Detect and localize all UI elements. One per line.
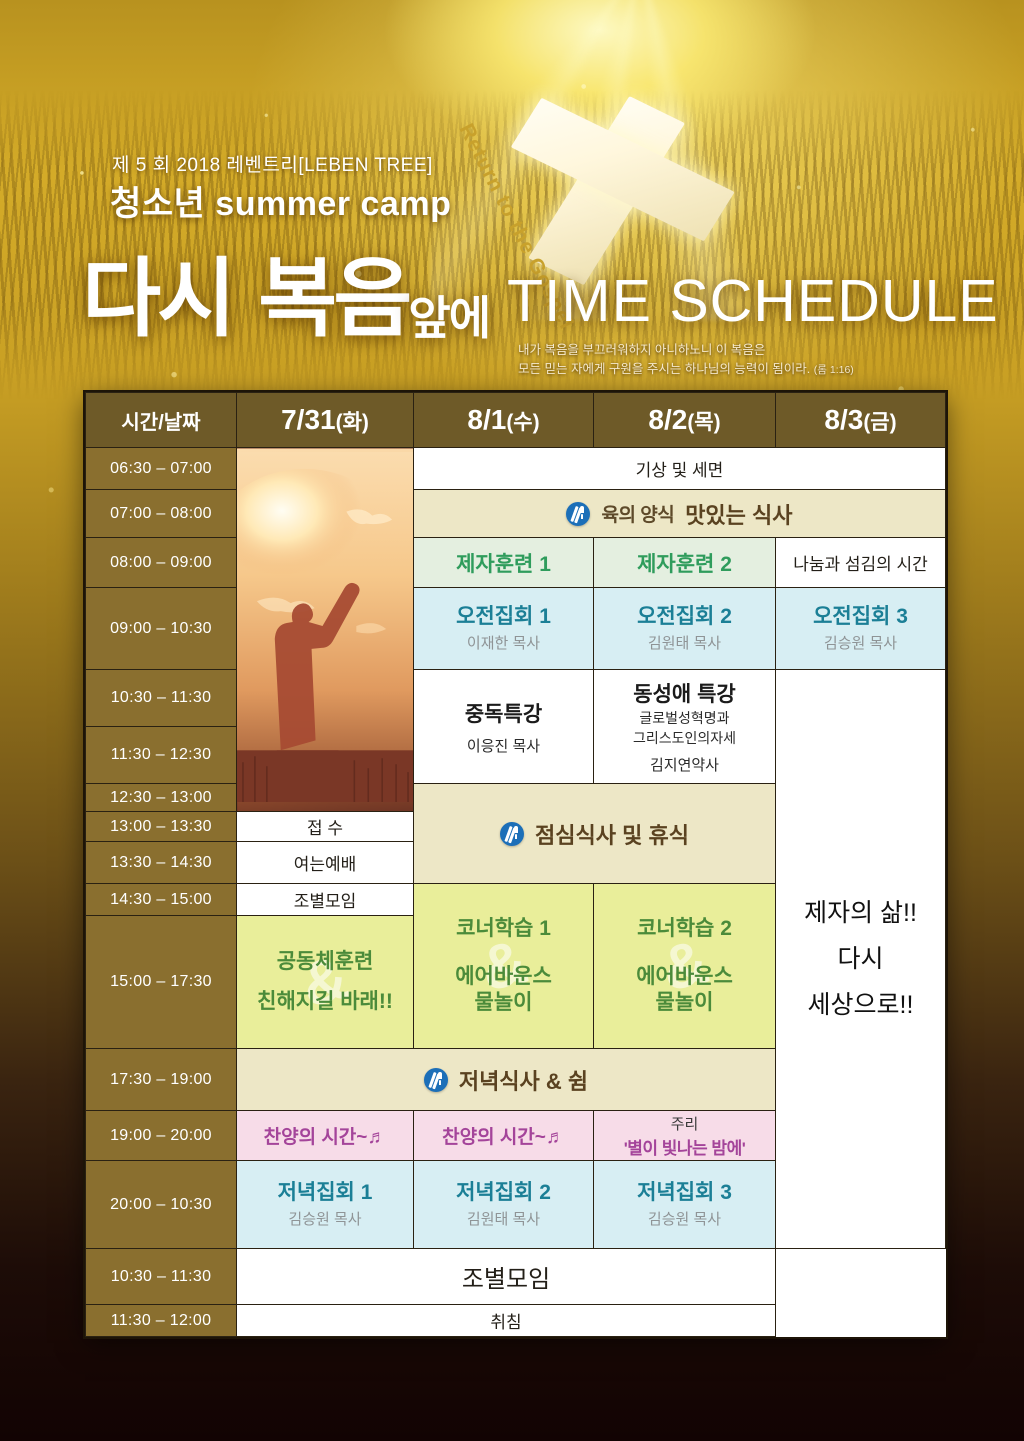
time-cell-5: 11:30 – 12:30 bbox=[86, 727, 237, 784]
corner-2-line-1: 코너학습 2 bbox=[594, 916, 775, 942]
morning-2-title: 오전집회 2 bbox=[594, 604, 775, 629]
cutlery-icon bbox=[500, 822, 524, 846]
evening-2-title: 저녁집회 2 bbox=[414, 1180, 593, 1205]
closing-line-3: 세상으로!! bbox=[776, 982, 945, 1028]
cell-breakfast: 육의 양식 맛있는 식사 bbox=[414, 490, 946, 538]
header-date-3-dow: (금) bbox=[863, 411, 896, 434]
cell-evening-session-1: 저녁집회 1 김승원 목사 bbox=[237, 1161, 414, 1249]
cell-evening-session-2: 저녁집회 2 김원태 목사 bbox=[414, 1161, 594, 1249]
time-cell-10: 15:00 – 17:30 bbox=[86, 916, 237, 1049]
cell-community-training: & 공동체훈련 친해지길 바래!! bbox=[237, 916, 414, 1049]
corner-1-line-2: 에어바운스 bbox=[414, 964, 593, 990]
time-cell-13: 20:00 – 10:30 bbox=[86, 1161, 237, 1249]
cell-juri-concert: 주리 '별이 빛나는 밤에' bbox=[594, 1111, 776, 1161]
header-date-3-date: 8/3 bbox=[824, 404, 863, 435]
homosex-speaker: 김지연약사 bbox=[594, 754, 775, 775]
cross-graphic bbox=[455, 108, 785, 283]
cell-corner-learning-1: & 코너학습 1 에어바운스 물놀이 bbox=[414, 884, 594, 1049]
table-row: 10:30 – 11:30 중독특강 이응진 목사 동성애 특강 글로벌성혁명과… bbox=[86, 670, 946, 727]
verse-reference: (롬 1:16) bbox=[814, 364, 854, 376]
cell-lunch: 점심식사 및 휴식 bbox=[414, 784, 776, 884]
dinner-content: 저녁식사 & 쉼 bbox=[237, 1064, 775, 1096]
morning-3-speaker: 김승원 목사 bbox=[776, 632, 945, 653]
cell-bedtime: 취침 bbox=[237, 1305, 776, 1337]
corner-2-line-3: 물놀이 bbox=[594, 990, 775, 1016]
header-date-0-dow: (화) bbox=[336, 411, 369, 434]
corner-2-line-2: 에어바운스 bbox=[594, 964, 775, 990]
evening-3-title: 저녁집회 3 bbox=[594, 1180, 775, 1205]
morning-2-speaker: 김원태 목사 bbox=[594, 632, 775, 653]
calligraphy-small: 앞에 bbox=[408, 291, 489, 345]
time-cell-0: 06:30 – 07:00 bbox=[86, 448, 237, 490]
lunch-content: 점심식사 및 휴식 bbox=[414, 818, 775, 850]
calligraphy-main: 다시 복음 bbox=[82, 249, 408, 349]
header-date-2-date: 8/2 bbox=[648, 404, 687, 435]
calligraphy-headline: 다시 복음앞에 bbox=[82, 256, 489, 342]
table-row: 09:00 – 10:30 오전집회 1 이재한 목사 오전집회 2 김원태 목… bbox=[86, 588, 946, 670]
time-cell-9: 14:30 – 15:00 bbox=[86, 884, 237, 916]
cell-sharing-time: 나눔과 섬김의 시간 bbox=[776, 538, 946, 588]
juri-name: 주리 bbox=[594, 1113, 775, 1134]
table-row: 10:30 – 11:30 조별모임 bbox=[86, 1249, 946, 1305]
header-time-label: 시간/날짜 bbox=[86, 393, 237, 448]
time-cell-6: 12:30 – 13:00 bbox=[86, 784, 237, 812]
morning-1-speaker: 이재한 목사 bbox=[414, 632, 593, 653]
table-row: 11:30 – 12:00 취침 bbox=[86, 1305, 946, 1337]
verse-line-2-wrap: 모든 믿는 자에게 구원을 주시는 하나님의 능력이 됨이라. (롬 1:16) bbox=[518, 360, 854, 379]
cutlery-icon bbox=[424, 1068, 448, 1092]
cell-opening-service: 여는예배 bbox=[237, 842, 414, 884]
table-row: 07:00 – 08:00 육의 양식 맛있는 식사 bbox=[86, 490, 946, 538]
addiction-speaker: 이응진 목사 bbox=[414, 735, 593, 756]
header-date-1-date: 8/1 bbox=[467, 404, 506, 435]
juri-title: '별이 빛나는 밤에' bbox=[594, 1134, 775, 1159]
cell-corner-learning-2: & 코너학습 2 에어바운스 물놀이 bbox=[594, 884, 776, 1049]
morning-3-title: 오전집회 3 bbox=[776, 604, 945, 629]
cell-praise-time-2: 찬양의 시간~♬ bbox=[414, 1111, 594, 1161]
time-cell-3: 09:00 – 10:30 bbox=[86, 588, 237, 670]
time-cell-2: 08:00 – 09:00 bbox=[86, 538, 237, 588]
community-line-1: 공동체훈련 bbox=[237, 942, 413, 982]
table-header-row: 시간/날짜 7/31(화) 8/1(수) 8/2(목) 8/3(금) bbox=[86, 393, 946, 448]
evening-1-title: 저녁집회 1 bbox=[237, 1180, 413, 1205]
time-cell-7: 13:00 – 13:30 bbox=[86, 812, 237, 842]
community-line-2: 친해지길 바래!! bbox=[237, 982, 413, 1022]
time-cell-15: 11:30 – 12:00 bbox=[86, 1305, 237, 1337]
table-row: 08:00 – 09:00 제자훈련 1 제자훈련 2 나눔과 섬김의 시간 bbox=[86, 538, 946, 588]
time-schedule-heading: TIME SCHEDULE bbox=[507, 272, 999, 331]
cell-morning-session-3: 오전집회 3 김승원 목사 bbox=[776, 588, 946, 670]
cell-morning-session-2: 오전집회 2 김원태 목사 bbox=[594, 588, 776, 670]
verse-line-2: 모든 믿는 자에게 구원을 주시는 하나님의 능력이 됨이라. bbox=[518, 362, 810, 376]
header-date-3: 8/3(금) bbox=[776, 393, 946, 448]
camp-photo-cell bbox=[237, 448, 414, 812]
header-date-2-dow: (목) bbox=[687, 411, 720, 434]
cell-registration: 접 수 bbox=[237, 812, 414, 842]
header-date-1-dow: (수) bbox=[506, 411, 539, 434]
table-row: 06:30 – 07:00 bbox=[86, 448, 946, 490]
cell-discipleship-2: 제자훈련 2 bbox=[594, 538, 776, 588]
time-cell-1: 07:00 – 08:00 bbox=[86, 490, 237, 538]
homosex-title: 동성애 특강 bbox=[594, 678, 775, 708]
closing-line-2: 다시 bbox=[776, 936, 945, 982]
homosex-desc-2: 그리스도인의자세 bbox=[594, 730, 775, 748]
cell-addiction-lecture: 중독특강 이응진 목사 bbox=[414, 670, 594, 784]
breakfast-label-a: 육의 양식 bbox=[601, 500, 674, 527]
scripture-verse: 내가 복음을 부끄러워하지 아니하노니 이 복음은 모든 믿는 자에게 구원을 … bbox=[518, 341, 854, 380]
schedule-table: 시간/날짜 7/31(화) 8/1(수) 8/2(목) 8/3(금) 06:30… bbox=[85, 392, 946, 1337]
morning-1-title: 오전집회 1 bbox=[414, 604, 593, 629]
header-date-0-date: 7/31 bbox=[281, 404, 336, 435]
poster-eyebrow: 제 5 회 2018 레벤트리[LEBEN TREE] bbox=[112, 150, 433, 177]
header-date-1: 8/1(수) bbox=[414, 393, 594, 448]
time-cell-14: 10:30 – 11:30 bbox=[86, 1249, 237, 1305]
cell-closing-message: 제자의 삶!! 다시 세상으로!! bbox=[776, 670, 946, 1249]
evening-3-speaker: 김승원 목사 bbox=[594, 1208, 775, 1229]
cell-group-meeting-night: 조별모임 bbox=[237, 1249, 776, 1305]
cell-wakeup: 기상 및 세면 bbox=[414, 448, 946, 490]
poster-title: 청소년 summer camp bbox=[110, 176, 451, 225]
cutlery-icon bbox=[566, 502, 590, 526]
corner-1-line-3: 물놀이 bbox=[414, 990, 593, 1016]
corner-1-line-1: 코너학습 1 bbox=[414, 916, 593, 942]
cell-dinner: 저녁식사 & 쉼 bbox=[237, 1049, 776, 1111]
person-praising-photo bbox=[237, 452, 413, 802]
cell-discipleship-1: 제자훈련 1 bbox=[414, 538, 594, 588]
lunch-label: 점심식사 및 휴식 bbox=[535, 818, 689, 850]
dinner-label: 저녁식사 & 쉼 bbox=[459, 1064, 588, 1096]
time-cell-11: 17:30 – 19:00 bbox=[86, 1049, 237, 1111]
verse-line-1: 내가 복음을 부끄러워하지 아니하노니 이 복음은 bbox=[518, 341, 854, 360]
header-date-0: 7/31(화) bbox=[237, 393, 414, 448]
cell-evening-session-3: 저녁집회 3 김승원 목사 bbox=[594, 1161, 776, 1249]
closing-line-1: 제자의 삶!! bbox=[776, 890, 945, 936]
cell-praise-time-1: 찬양의 시간~♬ bbox=[237, 1111, 414, 1161]
time-cell-8: 13:30 – 14:30 bbox=[86, 842, 237, 884]
addiction-title: 중독특강 bbox=[414, 698, 593, 728]
cell-homosexuality-lecture: 동성애 특강 글로벌성혁명과 그리스도인의자세 김지연약사 bbox=[594, 670, 776, 784]
breakfast-content: 육의 양식 맛있는 식사 bbox=[414, 498, 945, 530]
breakfast-label-b: 맛있는 식사 bbox=[685, 498, 792, 530]
header-date-2: 8/2(목) bbox=[594, 393, 776, 448]
cell-group-meeting-afternoon: 조별모임 bbox=[237, 884, 414, 916]
time-cell-4: 10:30 – 11:30 bbox=[86, 670, 237, 727]
evening-1-speaker: 김승원 목사 bbox=[237, 1208, 413, 1229]
cell-morning-session-1: 오전집회 1 이재한 목사 bbox=[414, 588, 594, 670]
homosex-desc-1: 글로벌성혁명과 bbox=[594, 710, 775, 728]
evening-2-speaker: 김원태 목사 bbox=[414, 1208, 593, 1229]
time-cell-12: 19:00 – 20:00 bbox=[86, 1111, 237, 1161]
poster-root: Return to the Gospel 제 5 회 2018 레벤트리[LEB… bbox=[0, 0, 1024, 1441]
